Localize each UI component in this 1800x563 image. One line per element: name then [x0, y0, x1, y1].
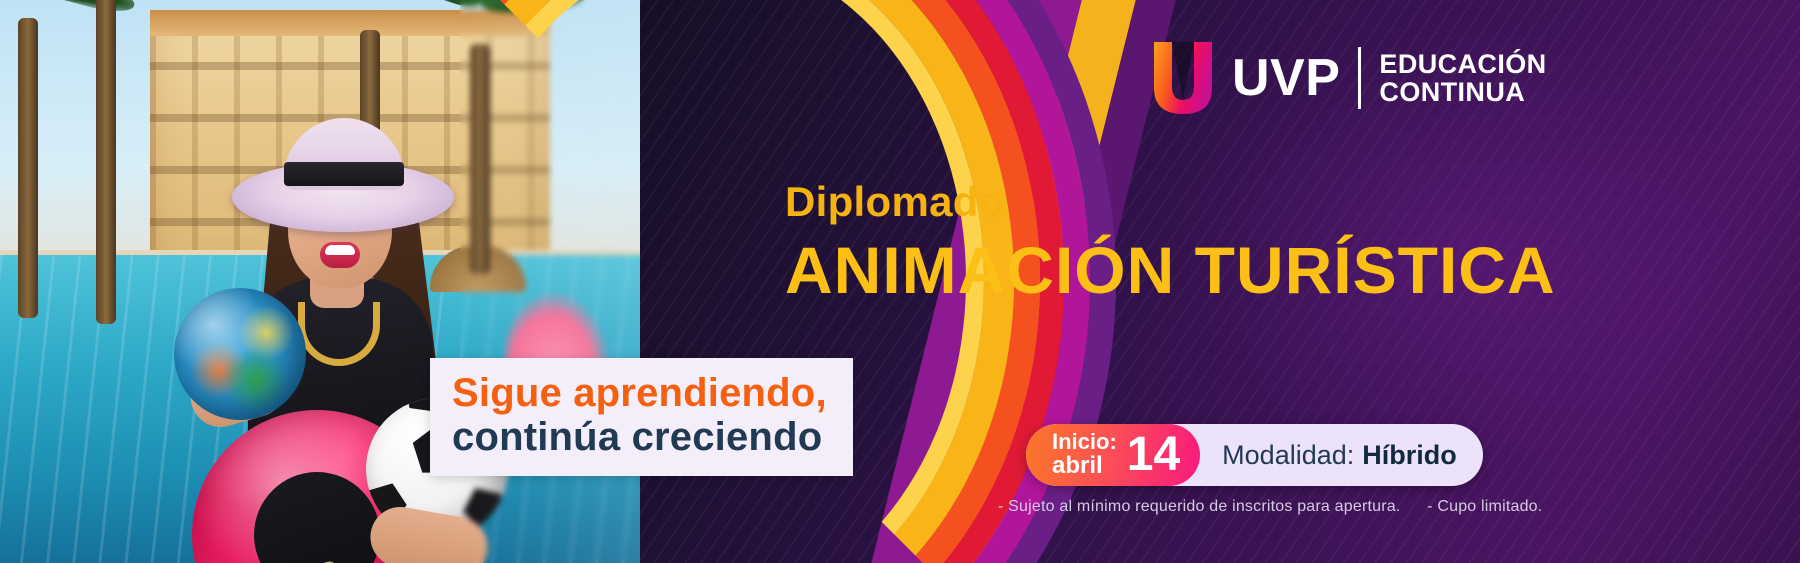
start-month-text: abril [1052, 454, 1117, 479]
disclaimer-text: - Sujeto al mínimo requerido de inscrito… [998, 498, 1564, 516]
hero-photo [0, 0, 640, 563]
promo-banner: UVP EDUCACIÓN CONTINUA Diplomado ANIMACI… [0, 0, 1800, 563]
modality-value: Híbrido [1362, 440, 1457, 471]
tagline-block: Sigue aprendiendo, continúa creciendo [430, 358, 853, 476]
modality-section: Modalidad: Híbrido [1200, 424, 1483, 486]
logo-divider [1358, 47, 1361, 109]
start-date-label: Inicio: abril [1052, 431, 1117, 479]
palm-tree [96, 0, 116, 324]
logo-subtitle-line2: CONTINUA [1379, 78, 1546, 106]
hat-band [284, 162, 404, 186]
logo-subtitle-line1: EDUCACIÓN [1379, 50, 1546, 78]
mouth [320, 242, 360, 268]
course-kicker: Diplomado [785, 178, 1005, 226]
start-label-text: Inicio: [1052, 429, 1117, 454]
uvp-v-mark-icon [1152, 42, 1214, 114]
palm-tree [18, 18, 38, 318]
logo-subtitle: EDUCACIÓN CONTINUA [1379, 50, 1546, 106]
uvp-logo-lockup: UVP EDUCACIÓN CONTINUA [1152, 42, 1547, 114]
tagline-line1: Sigue aprendiendo, [452, 372, 827, 415]
disclaimer-note-1: - Sujeto al mínimo requerido de inscrito… [998, 498, 1401, 515]
photo-edge-blend [460, 0, 640, 563]
logo-wordmark: UVP [1232, 52, 1340, 104]
sun-hat [232, 118, 454, 222]
course-title: ANIMACIÓN TURÍSTICA [785, 232, 1556, 308]
student-model [170, 110, 510, 563]
course-info-pill: Inicio: abril 14 Modalidad: Híbrido [1026, 424, 1483, 486]
tagline-line2: continúa creciendo [452, 415, 827, 460]
start-date-badge: Inicio: abril 14 [1026, 424, 1200, 486]
modality-label: Modalidad: [1222, 440, 1354, 471]
start-day-number: 14 [1127, 431, 1180, 479]
globe-prop [174, 288, 306, 420]
disclaimer-note-2: - Cupo limitado. [1427, 498, 1542, 515]
